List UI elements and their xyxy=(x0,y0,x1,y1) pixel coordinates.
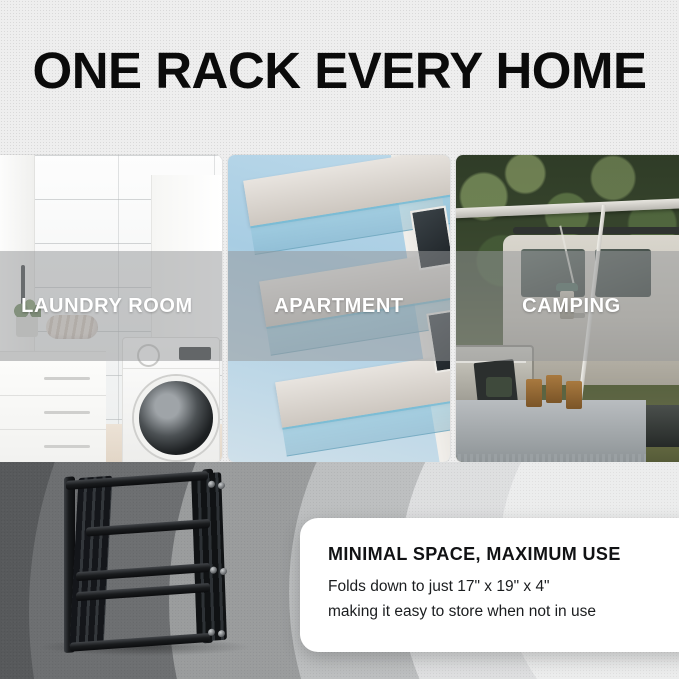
camp-table xyxy=(456,400,646,462)
drawer-handle xyxy=(44,411,90,414)
panel-label-overlay: CAMPING xyxy=(456,251,679,361)
roof-rack xyxy=(513,227,679,234)
product-image-folded-rack xyxy=(28,462,258,662)
use-case-panel-apartment[interactable]: APARTMENT xyxy=(228,155,450,462)
washer-door xyxy=(134,376,218,460)
use-case-label: CAMPING xyxy=(522,295,621,318)
use-case-panel-laundry-room[interactable]: LAUNDRY ROOM xyxy=(0,155,222,462)
feature-card-line-1: Folds down to just 17" x 19" x 4" xyxy=(328,578,550,596)
page-title: ONE RACK EVERY HOME xyxy=(0,44,679,98)
glass-jar xyxy=(566,381,582,409)
folded-leg-stack xyxy=(191,472,227,642)
feature-card-title: MINIMAL SPACE, MAXIMUM USE xyxy=(328,544,621,565)
folded-drying-rack xyxy=(42,465,232,654)
panel-label-overlay: LAUNDRY ROOM xyxy=(0,251,222,361)
feature-card-line-2: making it easy to store when not in use xyxy=(328,603,596,621)
use-case-label: APARTMENT xyxy=(274,295,403,318)
use-case-panel-camping[interactable]: CAMPING xyxy=(456,155,679,462)
rack-rivet xyxy=(218,482,225,489)
use-case-panels: LAUNDRY ROOM APARTMENT xyxy=(0,155,679,462)
rack-top-bar xyxy=(66,471,208,490)
glass-jar xyxy=(546,375,562,403)
feature-card: MINIMAL SPACE, MAXIMUM USE Folds down to… xyxy=(300,518,679,652)
panel-label-overlay: APARTMENT xyxy=(228,251,450,361)
product-infographic: ONE RACK EVERY HOME xyxy=(0,0,679,679)
use-case-label: LAUNDRY ROOM xyxy=(21,295,193,318)
drawer-divider xyxy=(0,395,106,396)
lower-cabinet xyxy=(0,361,106,462)
folded-leg-stack xyxy=(69,476,112,651)
drawer-divider xyxy=(0,429,106,430)
tablecloth-fringe xyxy=(456,454,646,462)
drawer-handle xyxy=(44,445,90,448)
glass-jar xyxy=(526,379,542,407)
cooking-pot xyxy=(486,377,512,397)
rack-rivet xyxy=(220,568,227,575)
drawer-handle xyxy=(44,377,90,380)
